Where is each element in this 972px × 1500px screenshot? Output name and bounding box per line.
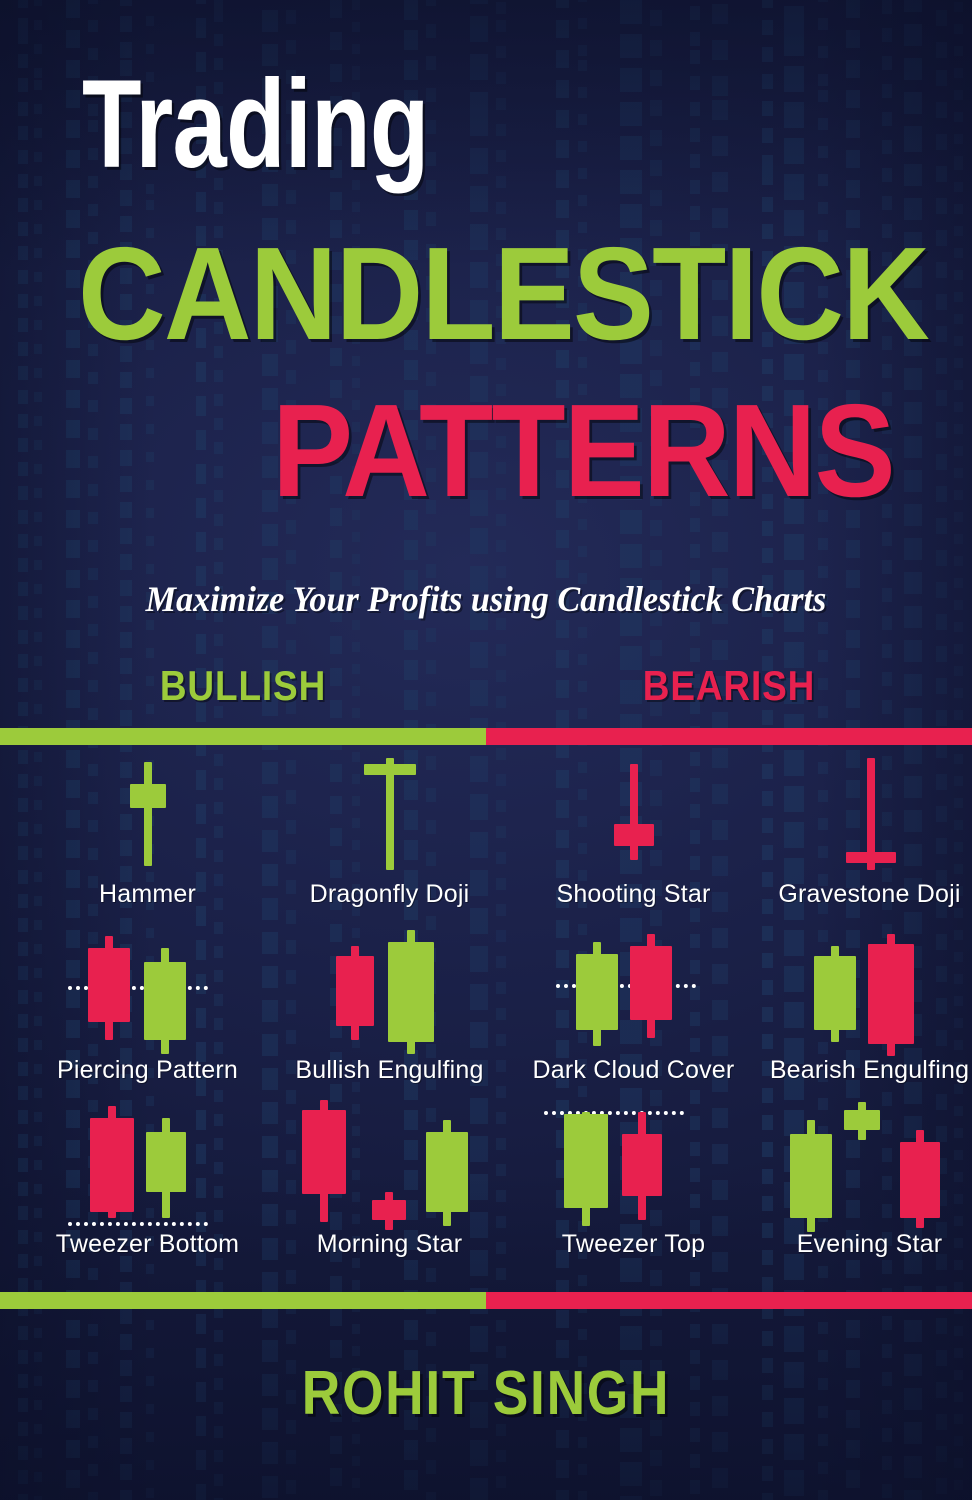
section-headers: BULLISH BEARISH: [0, 662, 972, 714]
pattern-label: Shooting Star: [500, 880, 767, 909]
pattern-cell[interactable]: Evening Star: [748, 1098, 972, 1274]
candlestick-diagram: [268, 748, 511, 884]
candlestick-diagram: [512, 1098, 755, 1234]
candle-bearish: [748, 748, 972, 884]
candlestick-diagram: [748, 1098, 972, 1234]
pattern-cell[interactable]: Shooting Star: [512, 748, 755, 924]
title-line-2: CANDLESTICK: [78, 228, 928, 360]
candlestick-diagram: [268, 924, 511, 1060]
candle-bearish: [512, 924, 755, 1060]
pattern-cell[interactable]: Bullish Engulfing: [268, 924, 511, 1100]
candlestick-diagram: [26, 748, 269, 884]
candlestick-diagram: [512, 748, 755, 884]
divider-rule-top: [0, 728, 972, 745]
pattern-grid: HammerDragonfly DojiShooting StarGravest…: [0, 748, 972, 1292]
divider-rule-bottom-green: [0, 1292, 486, 1309]
book-cover: Trading CANDLESTICK PATTERNS Maximize Yo…: [0, 0, 972, 1500]
candlestick-diagram: [268, 1098, 511, 1234]
pattern-label: Gravestone Doji: [736, 880, 972, 909]
pattern-cell[interactable]: Bearish Engulfing: [748, 924, 972, 1100]
pattern-label: Hammer: [14, 880, 281, 909]
candle-bearish: [748, 1098, 972, 1234]
candlestick-diagram: [26, 1098, 269, 1234]
pattern-cell[interactable]: Morning Star: [268, 1098, 511, 1274]
candle-bearish: [512, 1098, 755, 1234]
pattern-cell[interactable]: Hammer: [26, 748, 269, 924]
candle-bullish: [26, 1098, 269, 1234]
candle-body: [630, 946, 672, 1020]
candle-body: [388, 942, 434, 1042]
pattern-label: Piercing Pattern: [14, 1056, 281, 1085]
candle-bearish: [748, 924, 972, 1060]
candle-body: [614, 824, 654, 846]
pattern-label: Evening Star: [736, 1230, 972, 1259]
pattern-label: Bullish Engulfing: [256, 1056, 523, 1085]
candle-body: [622, 1134, 662, 1196]
candle-bullish: [26, 748, 269, 884]
pattern-label: Bearish Engulfing: [736, 1056, 972, 1085]
pattern-label: Morning Star: [256, 1230, 523, 1259]
candlestick-diagram: [26, 924, 269, 1060]
candle-bullish: [268, 924, 511, 1060]
pattern-cell[interactable]: Tweezer Top: [512, 1098, 755, 1274]
candle-bearish: [512, 748, 755, 884]
candle-bullish: [26, 924, 269, 1060]
pattern-cell[interactable]: Gravestone Doji: [748, 748, 972, 924]
pattern-label: Dark Cloud Cover: [500, 1056, 767, 1085]
section-header-bullish: BULLISH: [29, 662, 457, 710]
candle-body: [868, 944, 914, 1044]
candle-bullish: [268, 1098, 511, 1234]
candle-wick: [144, 762, 152, 866]
candle-body: [144, 962, 186, 1040]
author-name: ROHIT SINGH: [68, 1358, 904, 1429]
section-header-bearish: BEARISH: [515, 662, 943, 710]
divider-rule-top-green: [0, 728, 486, 745]
pattern-cell[interactable]: Dark Cloud Cover: [512, 924, 755, 1100]
divider-rule-top-red: [486, 728, 972, 745]
candle-body: [846, 852, 896, 863]
pattern-label: Dragonfly Doji: [256, 880, 523, 909]
candle-body: [146, 1132, 186, 1192]
pattern-label: Tweezer Top: [500, 1230, 767, 1259]
pattern-label: Tweezer Bottom: [14, 1230, 281, 1259]
title-line-1: Trading: [82, 62, 429, 187]
pattern-cell[interactable]: Tweezer Bottom: [26, 1098, 269, 1274]
divider-rule-bottom-red: [486, 1292, 972, 1309]
candle-body: [900, 1142, 940, 1218]
title-line-3: PATTERNS: [272, 385, 894, 517]
pattern-cell[interactable]: Dragonfly Doji: [268, 748, 511, 924]
candlestick-diagram: [748, 924, 972, 1060]
candlestick-diagram: [748, 748, 972, 884]
candle-body: [426, 1132, 468, 1212]
candle-body: [130, 784, 166, 808]
candle-body: [364, 764, 416, 775]
pattern-cell[interactable]: Piercing Pattern: [26, 924, 269, 1100]
candle-bullish: [268, 748, 511, 884]
candlestick-diagram: [512, 924, 755, 1060]
divider-rule-bottom: [0, 1292, 972, 1309]
subtitle: Maximize Your Profits using Candlestick …: [24, 578, 947, 620]
